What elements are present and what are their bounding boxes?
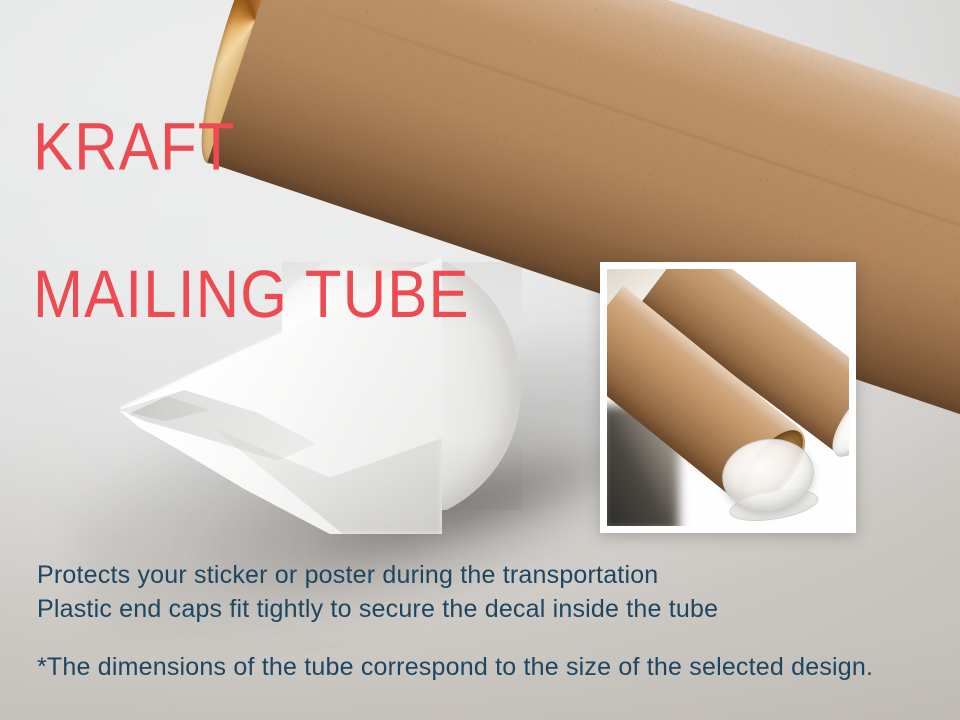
inset-product-photo — [600, 262, 856, 533]
title-line-1: KRAFT — [33, 110, 470, 184]
footnote-text: *The dimensions of the tube correspond t… — [37, 651, 873, 683]
title-line-2: MAILING TUBE — [33, 258, 470, 332]
loose-plastic-end-cap — [717, 432, 819, 518]
inset-photo-frame — [607, 269, 849, 526]
feature-line-2: Plastic end caps fit tightly to secure t… — [37, 592, 718, 626]
feature-line-1: Protects your sticker or poster during t… — [37, 558, 718, 592]
feature-description: Protects your sticker or poster during t… — [37, 558, 718, 626]
page-title: KRAFT MAILING TUBE — [33, 36, 470, 406]
product-banner: KRAFT MAILING TUBE Protects your sticker… — [0, 0, 960, 720]
